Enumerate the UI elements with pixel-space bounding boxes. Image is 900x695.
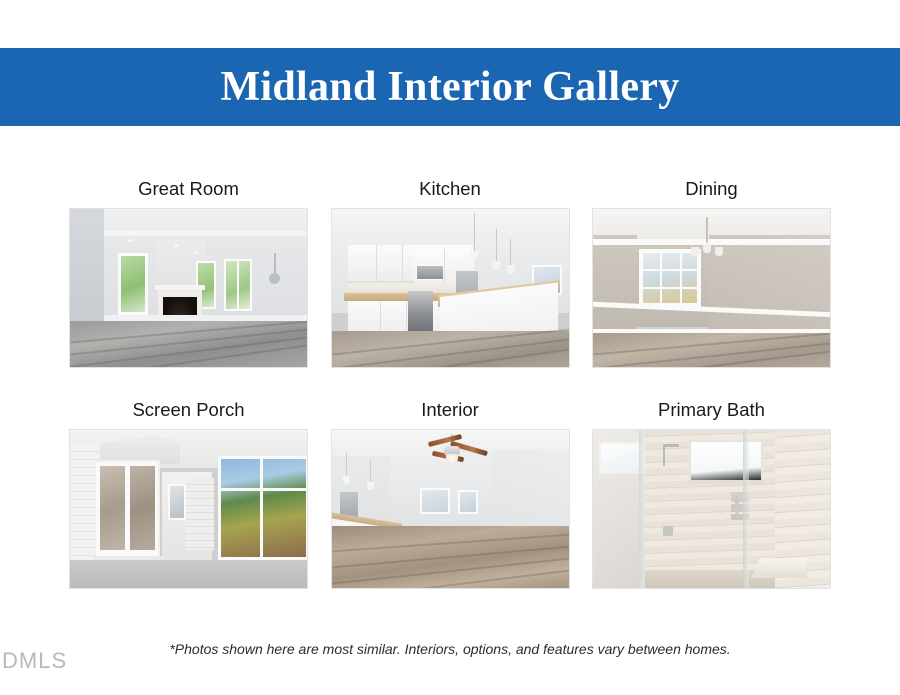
gallery-cell-dining[interactable]: Dining bbox=[592, 170, 831, 368]
gallery-row: Great Room bbox=[69, 170, 831, 368]
screen-porch-photo[interactable] bbox=[69, 429, 308, 589]
great-room-photo[interactable] bbox=[69, 208, 308, 368]
gallery-cell-great-room[interactable]: Great Room bbox=[69, 170, 308, 368]
header-band: Midland Interior Gallery bbox=[0, 48, 900, 126]
kitchen-photo[interactable] bbox=[331, 208, 570, 368]
photo-caption: Interior bbox=[331, 391, 570, 429]
row-spacer bbox=[69, 368, 831, 391]
primary-bath-photo[interactable] bbox=[592, 429, 831, 589]
photo-caption: Great Room bbox=[69, 170, 308, 208]
photo-gallery: Great Room bbox=[69, 170, 831, 589]
dining-photo[interactable] bbox=[592, 208, 831, 368]
photo-caption: Dining bbox=[592, 170, 831, 208]
gallery-cell-kitchen[interactable]: Kitchen bbox=[331, 170, 570, 368]
page-title: Midland Interior Gallery bbox=[220, 66, 679, 108]
gallery-page: Midland Interior Gallery Great Room bbox=[0, 0, 900, 695]
disclaimer-text: *Photos shown here are most similar. Int… bbox=[0, 641, 900, 657]
photo-caption: Kitchen bbox=[331, 170, 570, 208]
gallery-cell-interior[interactable]: Interior bbox=[331, 391, 570, 589]
gallery-cell-primary-bath[interactable]: Primary Bath bbox=[592, 391, 831, 589]
gallery-row: Screen Porch bbox=[69, 391, 831, 589]
interior-photo[interactable] bbox=[331, 429, 570, 589]
photo-caption: Screen Porch bbox=[69, 391, 308, 429]
photo-caption: Primary Bath bbox=[592, 391, 831, 429]
gallery-cell-screen-porch[interactable]: Screen Porch bbox=[69, 391, 308, 589]
mls-watermark: DMLS bbox=[2, 648, 67, 674]
